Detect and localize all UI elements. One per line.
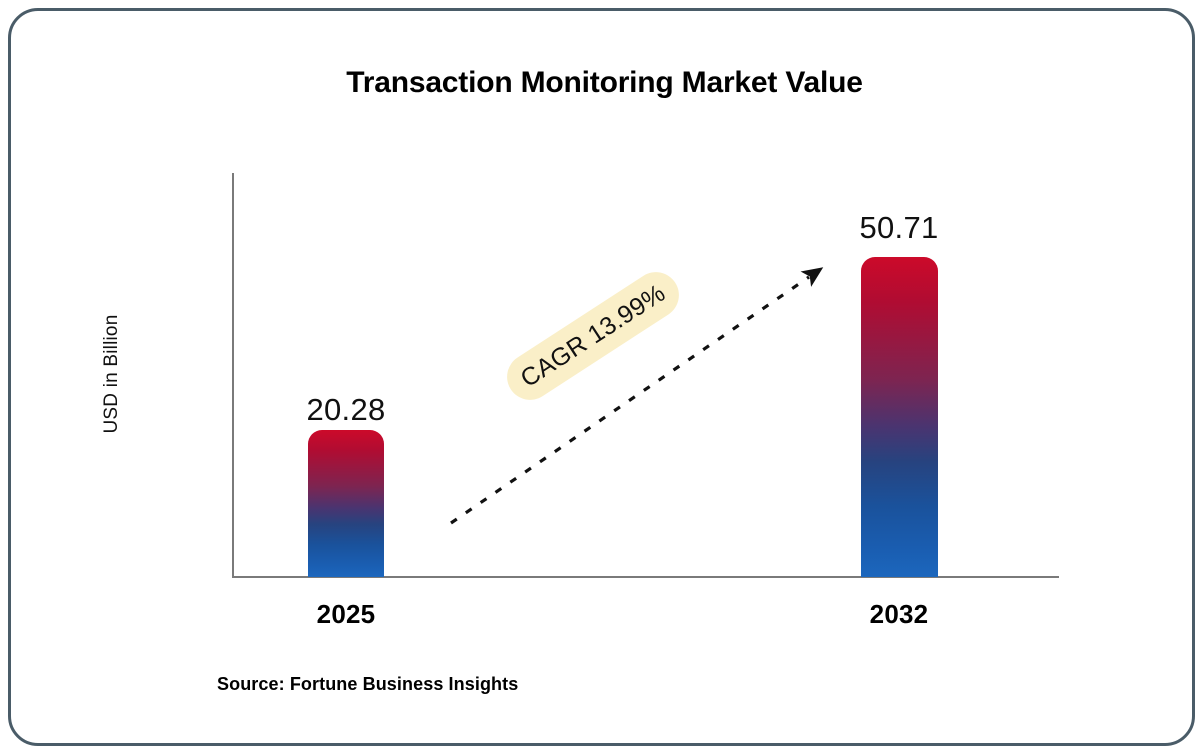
chart-card: Transaction Monitoring Market Value USD … (8, 8, 1195, 746)
plot-area: USD in Billion 20.28 50.71 2025 2032 CAG… (11, 11, 1198, 749)
x-tick-label-2032: 2032 (839, 599, 959, 630)
y-axis-line (232, 173, 234, 578)
cagr-label: CAGR 13.99% (498, 263, 687, 408)
y-axis-label: USD in Billion (101, 269, 123, 479)
bar-value-2032: 50.71 (839, 210, 959, 246)
cagr-badge: CAGR 13.99% (498, 263, 687, 408)
bar-value-2025: 20.28 (286, 392, 406, 428)
bar-2025[interactable] (308, 430, 384, 577)
x-tick-label-2025: 2025 (286, 599, 406, 630)
source-note: Source: Fortune Business Insights (217, 674, 518, 695)
bar-2032[interactable] (861, 257, 938, 577)
